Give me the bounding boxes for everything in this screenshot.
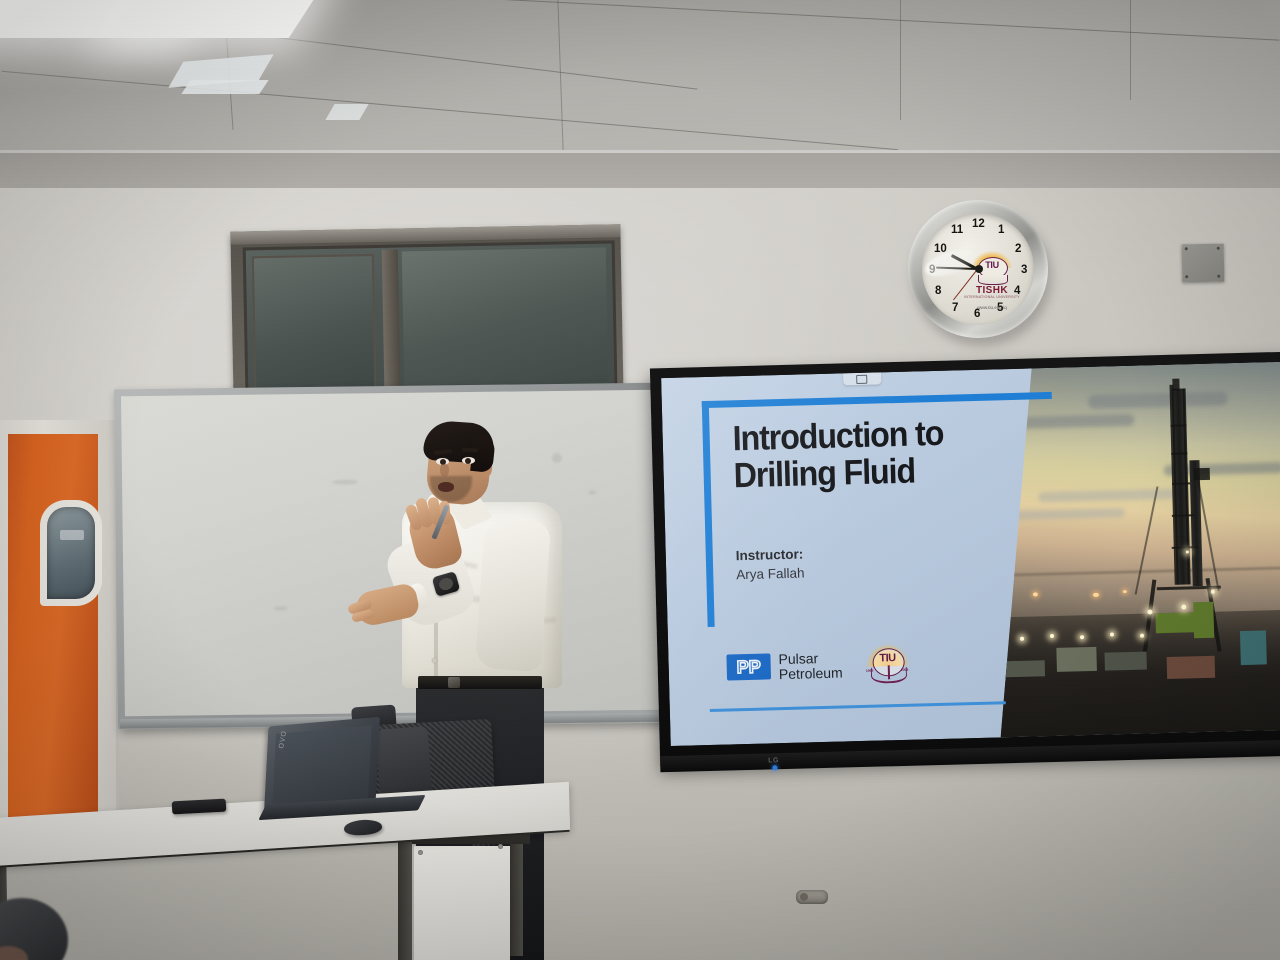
clock-number: 7 — [952, 303, 958, 315]
interior-window — [230, 224, 623, 407]
clock-number: 2 — [1015, 244, 1021, 256]
tiu-founded-right: 2008 — [901, 668, 909, 672]
wall-mount-anchor — [796, 890, 828, 904]
display-screen[interactable]: Introduction to Drilling Fluid Instructo… — [661, 362, 1280, 746]
clock-number: 11 — [951, 225, 963, 237]
slide-instructor-name: Arya Fallah — [736, 565, 805, 582]
slide-accent-bar-bottom — [710, 701, 1006, 712]
presenter-mouth — [438, 482, 454, 492]
slide-instructor-label: Instructor: — [736, 546, 804, 563]
display-power-led — [772, 765, 777, 770]
tiu-logo-icon: TIU 1969 2008 — [864, 640, 911, 687]
tiu-founded-left: 1969 — [866, 669, 874, 673]
door-window-icon — [40, 500, 102, 606]
wall-access-plate — [1182, 244, 1225, 283]
desk-modesty-panel — [414, 846, 510, 960]
presenter-belt — [418, 676, 542, 689]
clock-number: 8 — [935, 286, 941, 298]
laptop-screen[interactable] — [272, 726, 371, 807]
window-light-reflection — [181, 80, 268, 94]
clock-number: 6 — [974, 309, 980, 321]
tiu-monogram: TIU — [872, 652, 902, 665]
door-window-sticker — [60, 530, 84, 540]
display-brand-logo: LG — [768, 757, 779, 764]
clock-number: 3 — [1021, 265, 1027, 277]
wall-display[interactable]: Introduction to Drilling Fluid Instructo… — [650, 352, 1280, 769]
slide-photo-drilling-rig — [991, 362, 1280, 737]
clock-number: 1 — [998, 225, 1004, 237]
pulsar-petroleum-wordmark: Pulsar Petroleum — [778, 651, 843, 683]
window-pane-right — [402, 248, 609, 386]
slide-accent-bar-top — [702, 392, 1052, 408]
belt-buckle — [448, 677, 460, 688]
presenter-nose — [440, 464, 449, 477]
ceiling-light-panel — [109, 0, 321, 38]
pulsar-petroleum-monogram: PP — [726, 653, 771, 680]
clock-tiu-book-icon — [978, 275, 1008, 285]
clock-subtitle-text: INTERNATIONAL UNIVERSITY — [962, 295, 1022, 299]
clock-url-text: www.tiu.edu.iq — [962, 305, 1022, 310]
slide-accent-bar-left — [702, 401, 715, 627]
pulsar-line2: Petroleum — [779, 666, 843, 683]
classroom-door[interactable] — [8, 434, 98, 834]
desk-leg — [398, 830, 412, 960]
presenter-toolbar-icon[interactable] — [856, 375, 867, 384]
slide-title: Introduction to Drilling Fluid — [732, 413, 1019, 495]
clock-center-cap — [975, 265, 983, 273]
presenter-right-arm — [475, 518, 551, 672]
window-mullion — [382, 250, 401, 390]
presenter-pupil — [465, 458, 471, 464]
slide-title-line2: Drilling Fluid — [733, 450, 1019, 495]
window-pane-left — [252, 254, 377, 390]
shirt-button — [432, 658, 437, 663]
presentation-slide: Introduction to Drilling Fluid Instructo… — [661, 362, 1280, 746]
clock-number: 12 — [972, 219, 985, 231]
wall-clock: 12 1 2 3 4 5 6 7 8 9 10 11 TIU TISHK INT… — [908, 200, 1052, 346]
office-chair-lumbar-pad — [376, 726, 433, 799]
classroom-photo: 12 1 2 3 4 5 6 7 8 9 10 11 TIU TISHK INT… — [0, 0, 1280, 960]
